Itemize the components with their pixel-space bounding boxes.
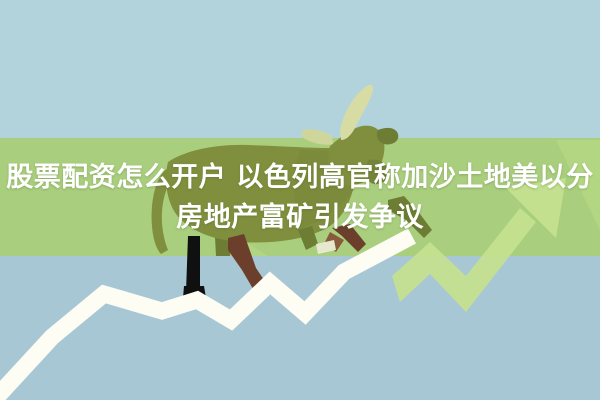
news-thumbnail-image: 股票配资怎么开户 以色列高官称加沙土地美以分 房地产富矿引发争议: [0, 0, 600, 400]
bull-muzzle: [365, 159, 388, 184]
white-trend-chart-line: [0, 236, 412, 400]
bull-horn-right: [301, 129, 333, 145]
running-bull-illustration: [152, 85, 432, 298]
bull-foreleg-upper: [388, 196, 432, 238]
bull-leg-tucked-hoof: [316, 240, 336, 254]
illustration-artwork: [0, 0, 600, 400]
bull-rear-leg-black: [186, 236, 200, 292]
